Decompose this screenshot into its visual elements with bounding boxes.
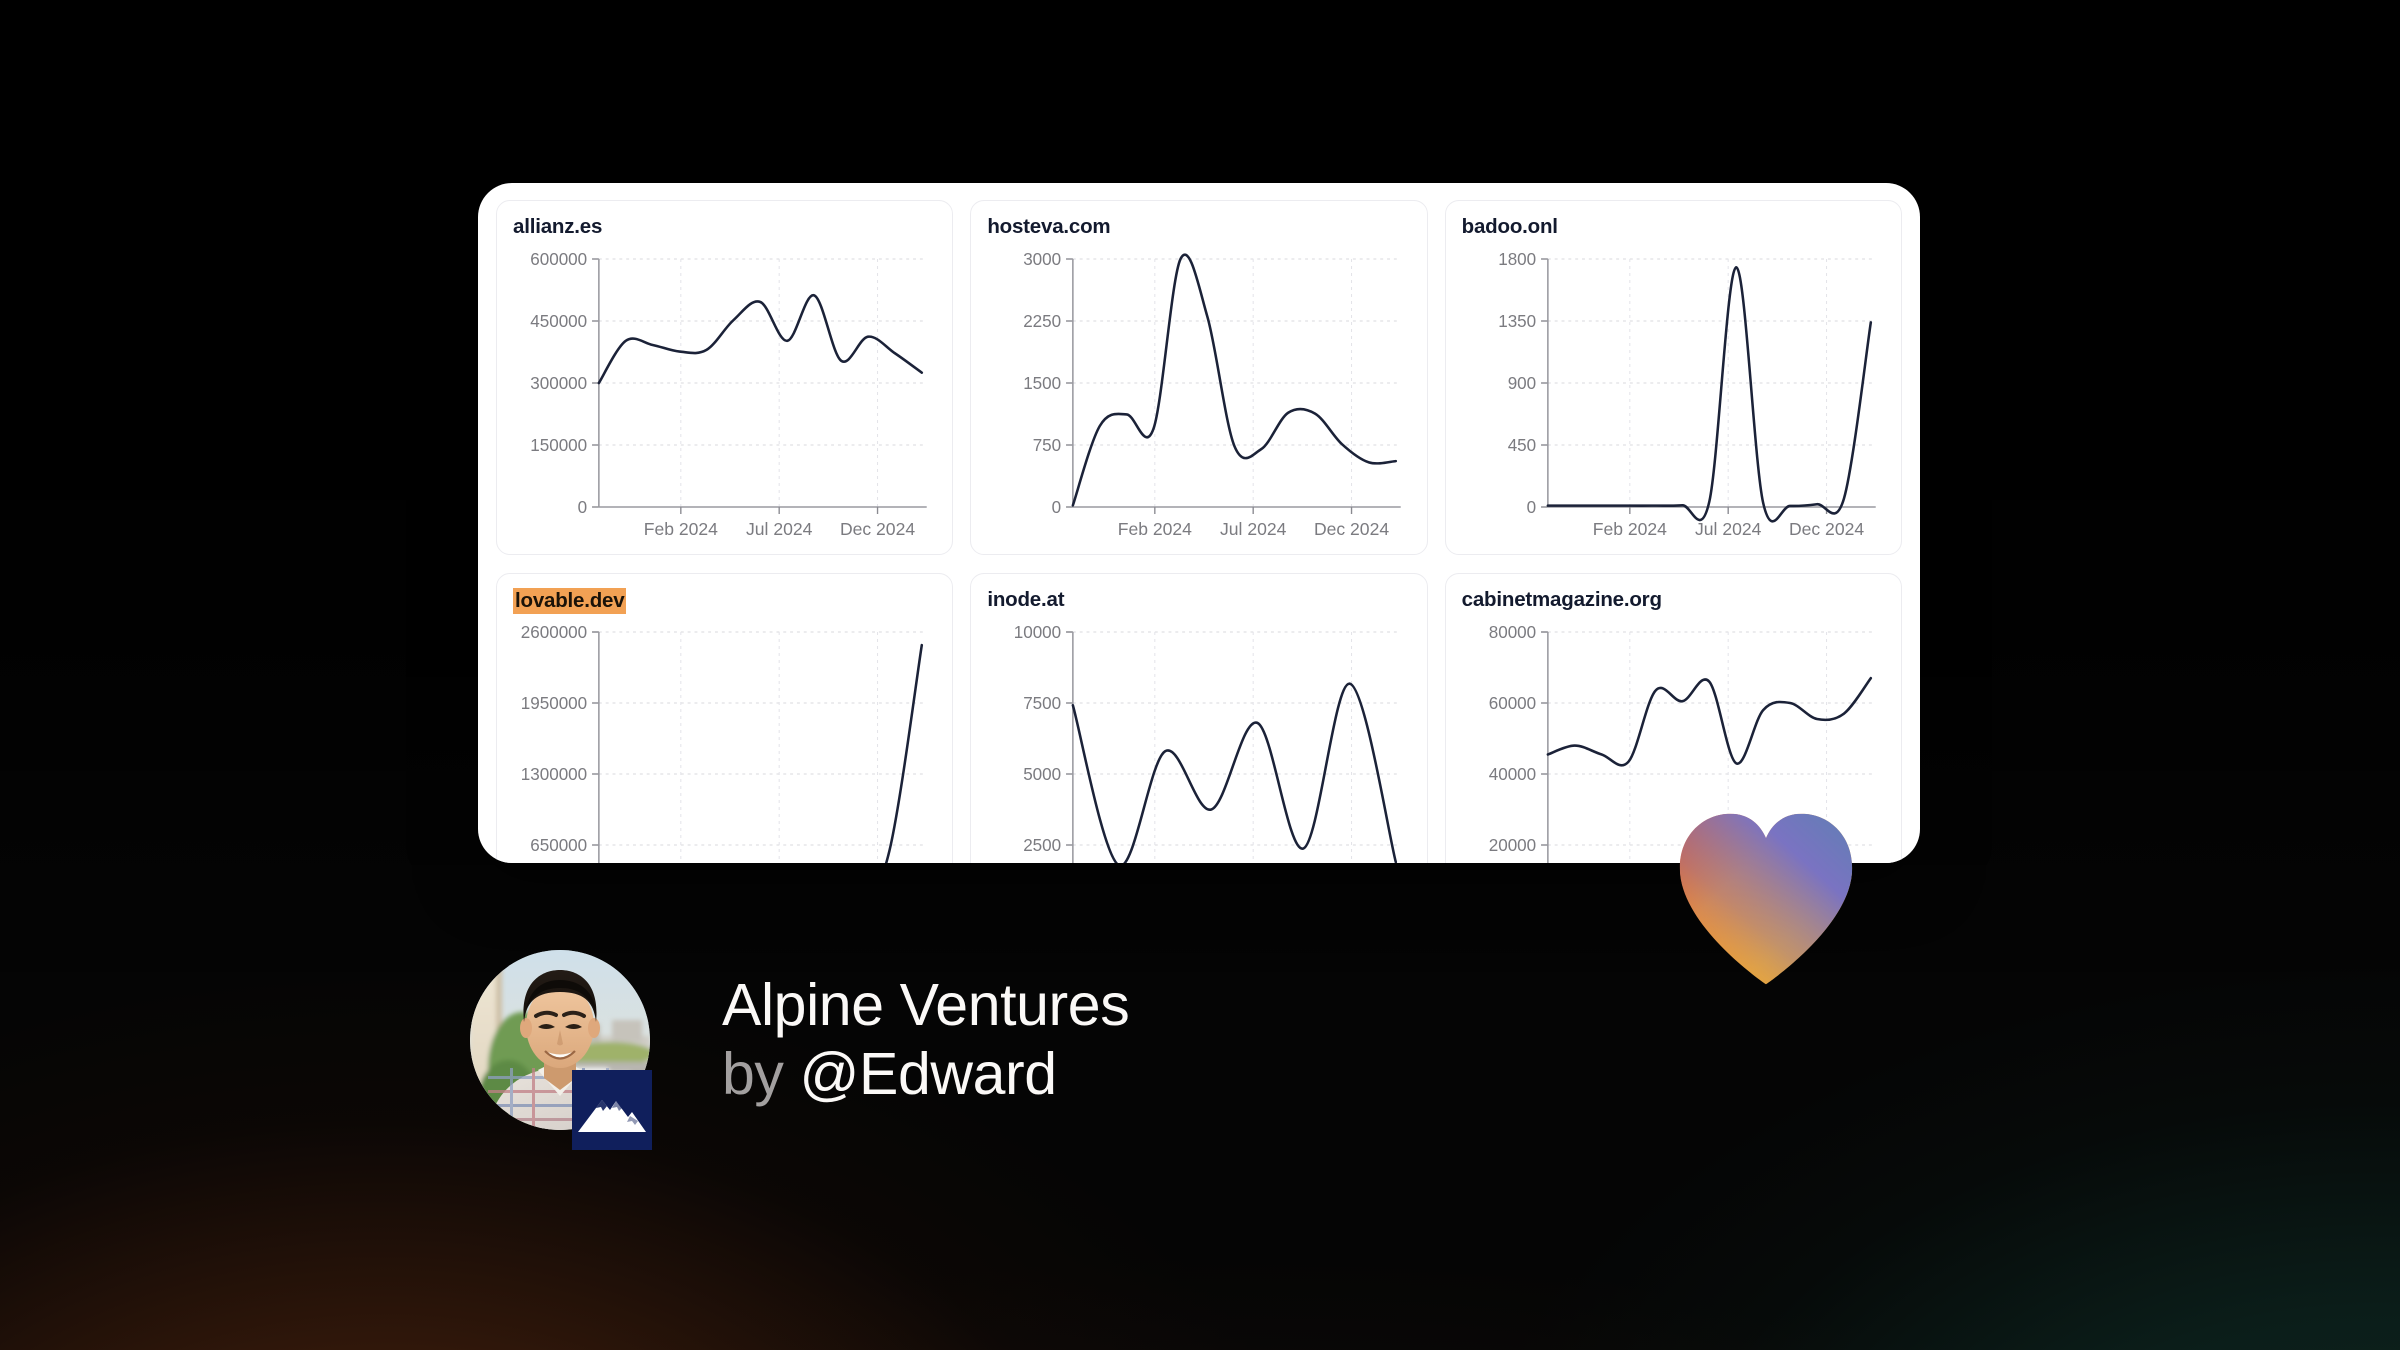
dashboard-card: allianz.es0150000300000450000600000Feb 2… [478, 183, 1920, 863]
y-tick-label: 0 [578, 497, 587, 517]
page-title: Alpine Ventures [722, 972, 1129, 1039]
x-tick-label: Dec 2024 [840, 519, 915, 539]
x-tick-label: Feb 2024 [1118, 519, 1192, 539]
chart-plot-area: 650000130000019500002600000 [513, 622, 942, 863]
chart-tile[interactable]: inode.at25005000750010000 [970, 573, 1427, 863]
chart-tile-title: hosteva.com [987, 215, 1110, 239]
chart-tile-title: allianz.es [513, 215, 602, 239]
y-tick-label: 0 [1526, 497, 1535, 517]
y-tick-label: 40000 [1488, 764, 1535, 784]
chart-plot-area: 0150000300000450000600000Feb 2024Jul 202… [513, 249, 942, 549]
avatar-block [470, 950, 650, 1130]
y-tick-label: 2250 [1024, 311, 1062, 331]
y-tick-label: 600000 [530, 249, 587, 269]
data-line [1548, 678, 1871, 765]
y-tick-label: 60000 [1488, 693, 1535, 713]
y-tick-label: 2600000 [521, 622, 587, 642]
x-tick-label: Dec 2024 [1789, 519, 1864, 539]
x-tick-label: Dec 2024 [1314, 519, 1389, 539]
data-line [599, 295, 922, 383]
titles: Alpine Ventures by @Edward [722, 972, 1129, 1109]
y-tick-label: 650000 [530, 835, 587, 855]
footer: Alpine Ventures by @Edward [470, 925, 1570, 1155]
y-tick-label: 10000 [1014, 622, 1061, 642]
y-tick-label: 450 [1507, 435, 1535, 455]
chart-tile[interactable]: lovable.dev650000130000019500002600000 [496, 573, 953, 863]
chart-plot-area: 20000400006000080000 [1462, 622, 1891, 863]
y-tick-label: 2500 [1024, 835, 1062, 855]
y-tick-label: 1500 [1024, 373, 1062, 393]
y-tick-label: 20000 [1488, 835, 1535, 855]
y-tick-label: 1300000 [521, 764, 587, 784]
data-line [599, 645, 922, 863]
data-line [1548, 267, 1871, 521]
y-tick-label: 0 [1052, 497, 1061, 517]
chart-tile-title: cabinetmagazine.org [1462, 588, 1662, 612]
byline-prefix: by [722, 1041, 784, 1107]
author-handle: @Edward [800, 1041, 1057, 1107]
x-tick-label: Jul 2024 [1695, 519, 1761, 539]
chart-tile[interactable]: hosteva.com0750150022503000Feb 2024Jul 2… [970, 200, 1427, 555]
x-tick-label: Feb 2024 [1592, 519, 1666, 539]
y-tick-label: 3000 [1024, 249, 1062, 269]
data-line [1073, 684, 1396, 863]
y-tick-label: 750 [1033, 435, 1061, 455]
y-tick-label: 450000 [530, 311, 587, 331]
data-line [1073, 255, 1396, 506]
y-tick-label: 300000 [530, 373, 587, 393]
chart-plot-area: 045090013501800Feb 2024Jul 2024Dec 2024 [1462, 249, 1891, 549]
chart-plot-area: 25005000750010000 [987, 622, 1416, 863]
mountain-logo-badge [572, 1070, 652, 1150]
chart-tile[interactable]: allianz.es0150000300000450000600000Feb 2… [496, 200, 953, 555]
y-tick-label: 900 [1507, 373, 1535, 393]
byline: by @Edward [722, 1041, 1129, 1108]
chart-tile-title: lovable.dev [513, 588, 626, 614]
x-tick-label: Jul 2024 [1220, 519, 1286, 539]
chart-grid: allianz.es0150000300000450000600000Feb 2… [478, 183, 1920, 863]
y-tick-label: 1350 [1498, 311, 1536, 331]
x-tick-label: Jul 2024 [746, 519, 812, 539]
y-tick-label: 150000 [530, 435, 587, 455]
y-tick-label: 80000 [1488, 622, 1535, 642]
y-tick-label: 5000 [1024, 764, 1062, 784]
chart-tile-title: inode.at [987, 588, 1064, 612]
y-tick-label: 7500 [1024, 693, 1062, 713]
chart-tile-title: badoo.onl [1462, 215, 1558, 239]
chart-plot-area: 0750150022503000Feb 2024Jul 2024Dec 2024 [987, 249, 1416, 549]
y-tick-label: 1950000 [521, 693, 587, 713]
x-tick-label: Feb 2024 [644, 519, 718, 539]
chart-tile[interactable]: cabinetmagazine.org20000400006000080000 [1445, 573, 1902, 863]
y-tick-label: 1800 [1498, 249, 1536, 269]
chart-tile[interactable]: badoo.onl045090013501800Feb 2024Jul 2024… [1445, 200, 1902, 555]
